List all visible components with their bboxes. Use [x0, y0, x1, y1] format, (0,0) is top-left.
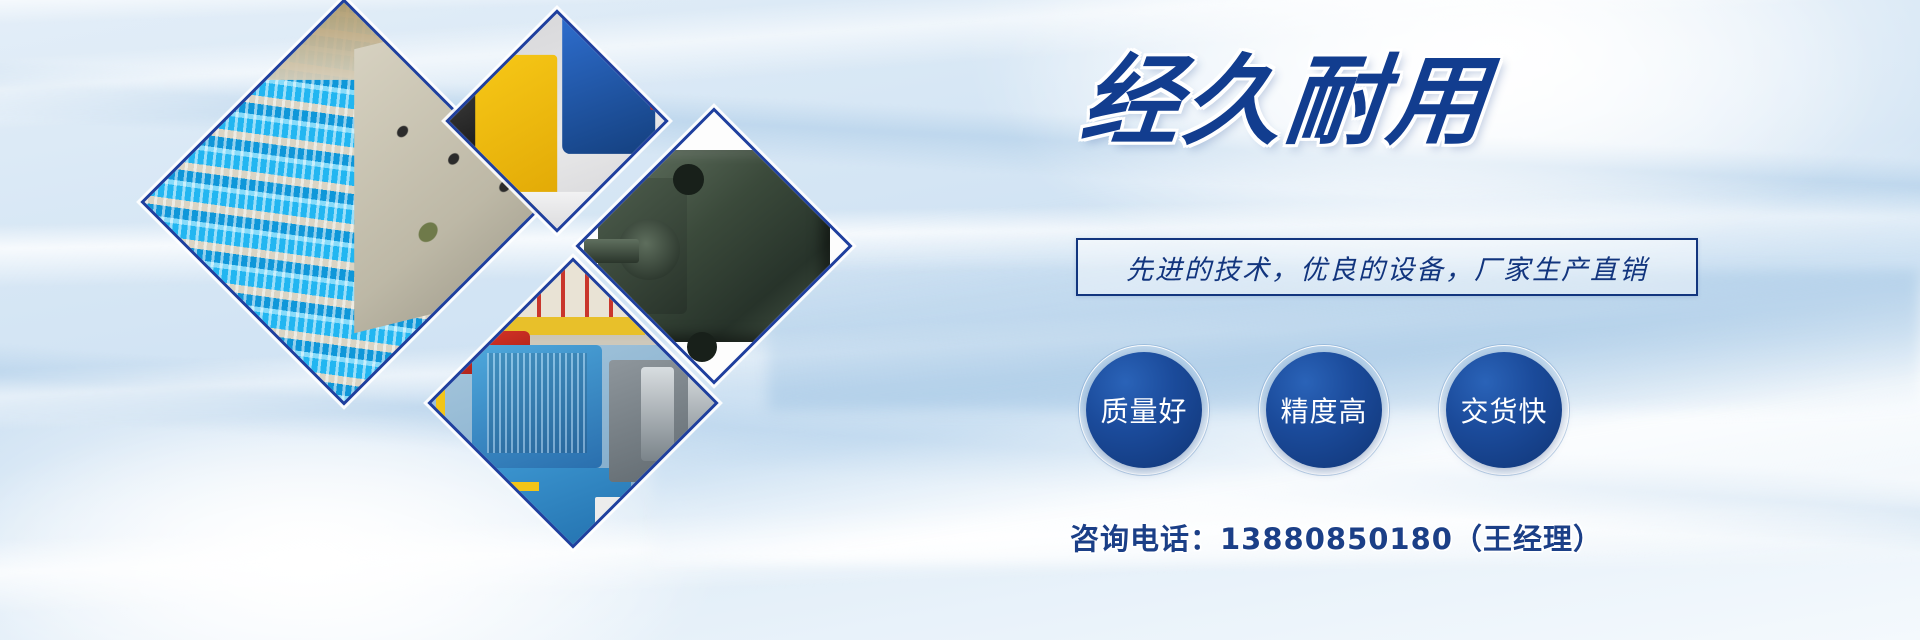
product-photo-collage	[0, 0, 880, 640]
pump-bolt-hole-right	[817, 308, 844, 335]
power-unit-valve-left	[641, 367, 673, 461]
badge-label-quality: 质量好	[1100, 390, 1187, 430]
badge-label-precision: 精度高	[1280, 390, 1367, 430]
badge-label-delivery: 交货快	[1460, 390, 1547, 430]
power-unit-yellow-hose	[436, 374, 539, 491]
motor-blue-body	[562, 12, 655, 154]
banner-subtitle-text: 先进的技术，优良的设备，厂家生产直销	[1126, 248, 1648, 287]
promotional-banner: 经久耐用 先进的技术，优良的设备，厂家生产直销 质量好 精度高 交货快 咨询电话…	[0, 0, 1920, 640]
motor-red-part	[650, 66, 669, 110]
banner-headline: 经久耐用	[1077, 52, 1496, 154]
feature-badge-delivery[interactable]: 交货快	[1446, 352, 1562, 468]
banner-subtitle-box: 先进的技术，优良的设备，厂家生产直销	[1076, 238, 1698, 296]
cylinders-backdrop	[140, 0, 547, 80]
feature-badge-group: 质量好 精度高 交货快	[1086, 352, 1562, 468]
feature-badge-quality[interactable]: 质量好	[1086, 352, 1202, 468]
pump-shaft	[584, 239, 639, 263]
pump-bolt-hole-top	[673, 164, 704, 195]
contact-phone-text[interactable]: 咨询电话：13880850180（王经理）	[1070, 516, 1603, 558]
power-unit-gauge-panel	[595, 497, 719, 549]
banner-text-column: 经久耐用 先进的技术，优良的设备，厂家生产直销 质量好 精度高 交货快 咨询电话…	[1060, 0, 1800, 640]
feature-badge-precision[interactable]: 精度高	[1266, 352, 1382, 468]
